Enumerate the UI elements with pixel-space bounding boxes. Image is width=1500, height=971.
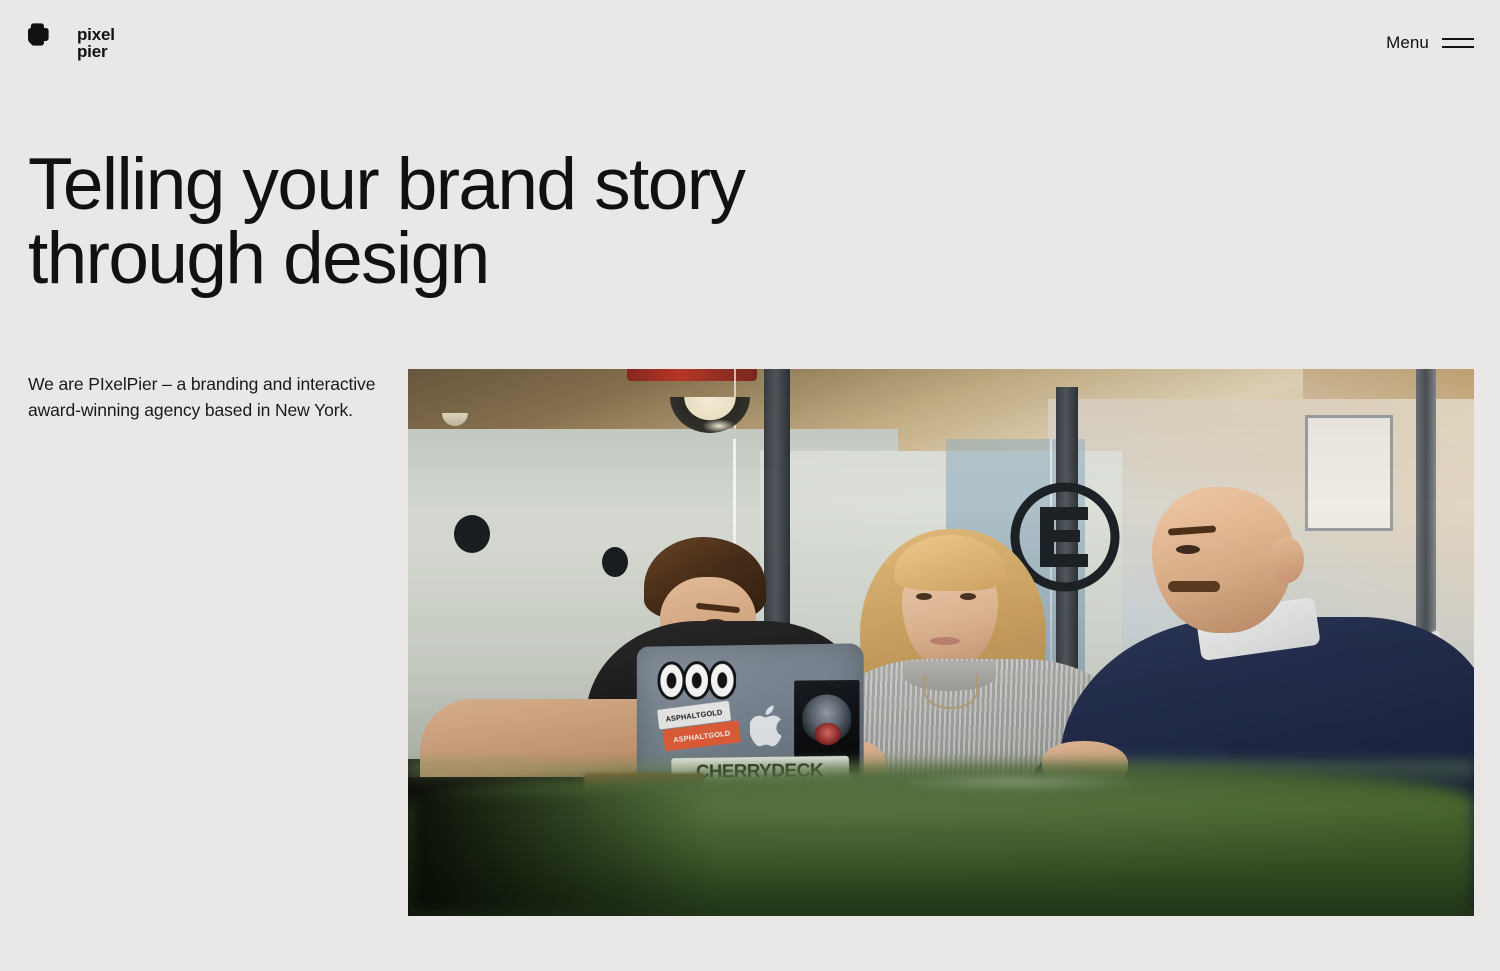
brand-logo-link[interactable]: pixel pier xyxy=(28,23,115,63)
brand-line-1: pixel xyxy=(77,26,115,43)
brand-wordmark: pixel pier xyxy=(77,26,115,61)
man-right-moustache xyxy=(1168,581,1220,592)
office-photo: ASPHALTGOLD ASPHALTGOLD cherrydeck.com C… xyxy=(408,369,1474,916)
page-title: Telling your brand story through design xyxy=(28,148,928,296)
hamburger-icon xyxy=(1442,37,1474,50)
glass-dot-decal-2 xyxy=(602,547,628,577)
glass-dot-decal-1 xyxy=(454,515,490,553)
menu-label: Menu xyxy=(1386,33,1429,53)
table-shadow-left xyxy=(408,789,708,916)
man-right-eye xyxy=(1176,545,1200,554)
woman-lips xyxy=(930,637,960,645)
apple-logo-icon xyxy=(750,703,788,749)
red-ceiling-beam xyxy=(627,369,757,381)
man-right-ear xyxy=(1270,537,1304,583)
woman-necklace xyxy=(924,675,978,709)
table-highlight xyxy=(888,773,1148,791)
menu-button[interactable]: Menu xyxy=(1384,27,1476,59)
pendant-lamp-glow xyxy=(702,419,736,433)
woman-eye-right xyxy=(960,593,976,600)
gorilla-mouth xyxy=(814,723,841,745)
hero-image: ASPHALTGOLD ASPHALTGOLD cherrydeck.com C… xyxy=(408,369,1474,916)
clover-logo-icon xyxy=(28,23,66,63)
wall-picture-frame xyxy=(1305,415,1393,531)
site-header: pixel pier Menu xyxy=(0,0,1500,86)
brand-line-2: pier xyxy=(77,43,115,60)
page-root: pixel pier Menu Telling your brand story… xyxy=(0,0,1500,971)
ucn-sticker-icon xyxy=(654,655,736,705)
woman-eye-left xyxy=(916,593,932,600)
hero-intro-paragraph: We are PIxelPier – a branding and intera… xyxy=(28,371,388,423)
